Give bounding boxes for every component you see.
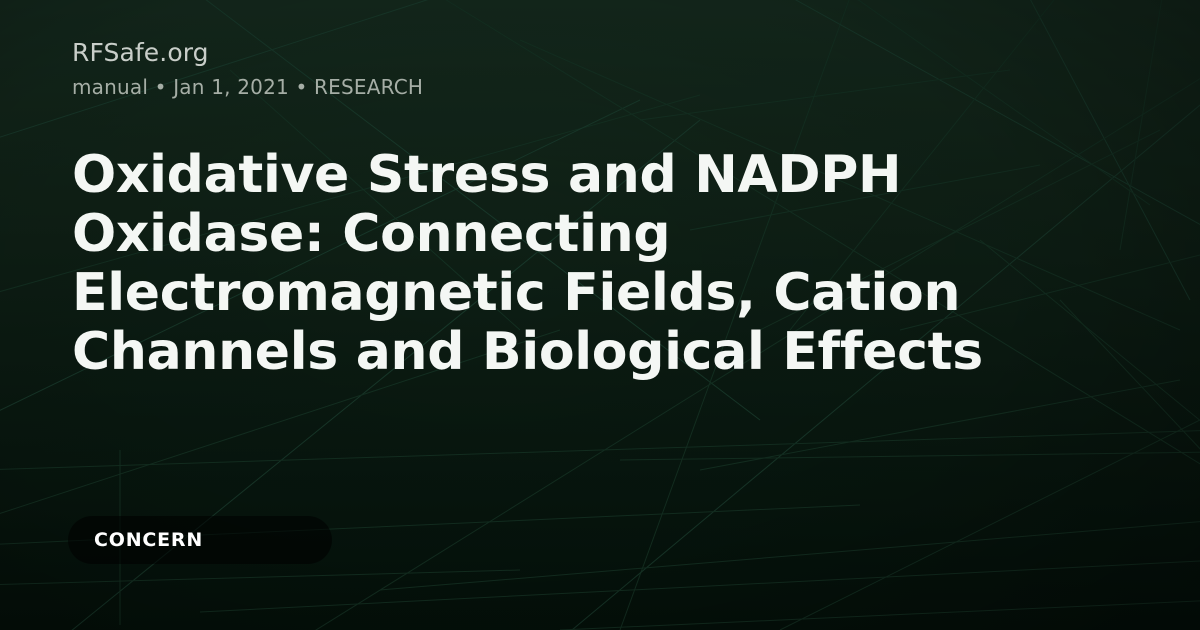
- meta-line: manual • Jan 1, 2021 • RESEARCH: [72, 74, 1128, 101]
- page-title: Oxidative Stress and NADPH Oxidase: Conn…: [72, 146, 1130, 382]
- og-share-card: RFSafe.org manual • Jan 1, 2021 • RESEAR…: [0, 0, 1200, 630]
- status-badge: CONCERN: [68, 516, 332, 564]
- brand-name: RFSafe.org: [72, 36, 1128, 70]
- status-badge-label: CONCERN: [94, 529, 203, 551]
